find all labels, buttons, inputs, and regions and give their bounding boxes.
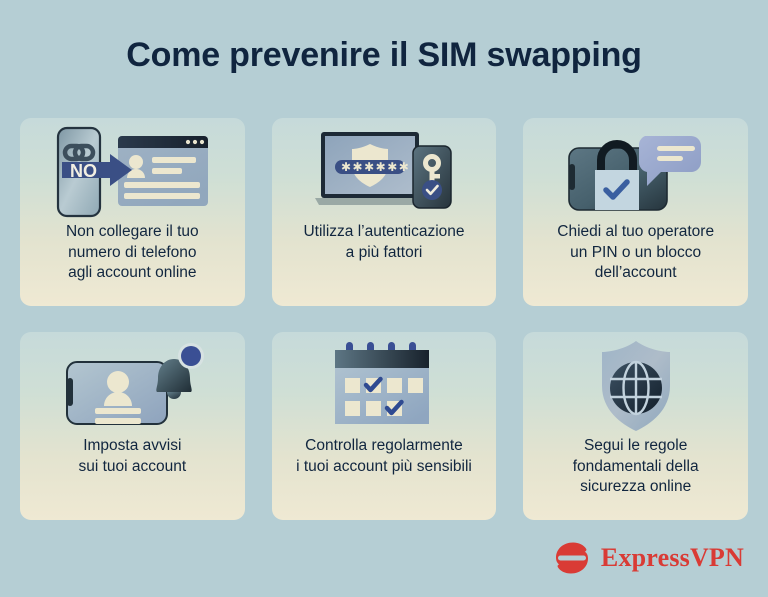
tip-card-check-accounts: Controlla regolarmente i tuoi account pi… xyxy=(272,332,497,520)
expressvpn-wordmark: ExpressVPN xyxy=(601,543,744,573)
tip-card-no-link-phone: NO Non collegare il tuo numero di telefo… xyxy=(20,118,245,306)
tip-caption: Utilizza l’autenticazione a più fattori xyxy=(293,222,474,263)
phone-profile-notification-bell-icon xyxy=(57,338,207,434)
icon-calendar-checkmarks xyxy=(272,332,497,436)
tip-caption: Imposta avvisi sui tuoi account xyxy=(68,436,196,477)
shield-globe-icon xyxy=(586,336,686,436)
tip-card-security-basics: Segui le regole fondamentali della sicur… xyxy=(523,332,748,520)
tip-caption: Non collegare il tuo numero di telefono … xyxy=(56,222,209,284)
infographic-root: Come prevenire il SIM swapping xyxy=(0,0,768,597)
icon-laptop-shield-phone-key: ✱✱✱✱✱✱ xyxy=(272,118,497,222)
tip-card-account-alerts: Imposta avvisi sui tuoi account xyxy=(20,332,245,520)
tip-caption: Chiedi al tuo operatore un PIN o un bloc… xyxy=(547,222,724,284)
page-title: Come prevenire il SIM swapping xyxy=(0,36,768,75)
tip-card-carrier-pin-lock: Chiedi al tuo operatore un PIN o un bloc… xyxy=(523,118,748,306)
laptop-shield-password-phone-key-icon: ✱✱✱✱✱✱ xyxy=(309,124,459,220)
icon-phone-padlock-bubble xyxy=(523,118,748,222)
icon-phone-link-no-arrow-browser: NO xyxy=(20,118,245,222)
no-arrow-label: NO xyxy=(70,161,97,181)
phone-link-no-arrow-browser-icon: NO xyxy=(52,124,212,220)
icon-shield-globe xyxy=(523,332,748,436)
tip-caption: Segui le regole fondamentali della sicur… xyxy=(563,436,709,498)
expressvpn-e-mark-icon xyxy=(552,541,592,575)
expressvpn-logo: ExpressVPN xyxy=(552,541,744,575)
tip-card-multi-factor-auth: ✱✱✱✱✱✱ Utilizza l’autenticazione a più f… xyxy=(272,118,497,306)
icon-phone-profile-bell xyxy=(20,332,245,436)
phone-padlock-speech-bubble-icon xyxy=(561,124,711,220)
tips-grid: NO Non collegare il tuo numero di telefo… xyxy=(20,118,748,520)
tip-caption: Controlla regolarmente i tuoi account pi… xyxy=(286,436,482,477)
password-mask: ✱✱✱✱✱✱ xyxy=(341,160,410,174)
calendar-checkmarks-icon xyxy=(325,338,443,434)
